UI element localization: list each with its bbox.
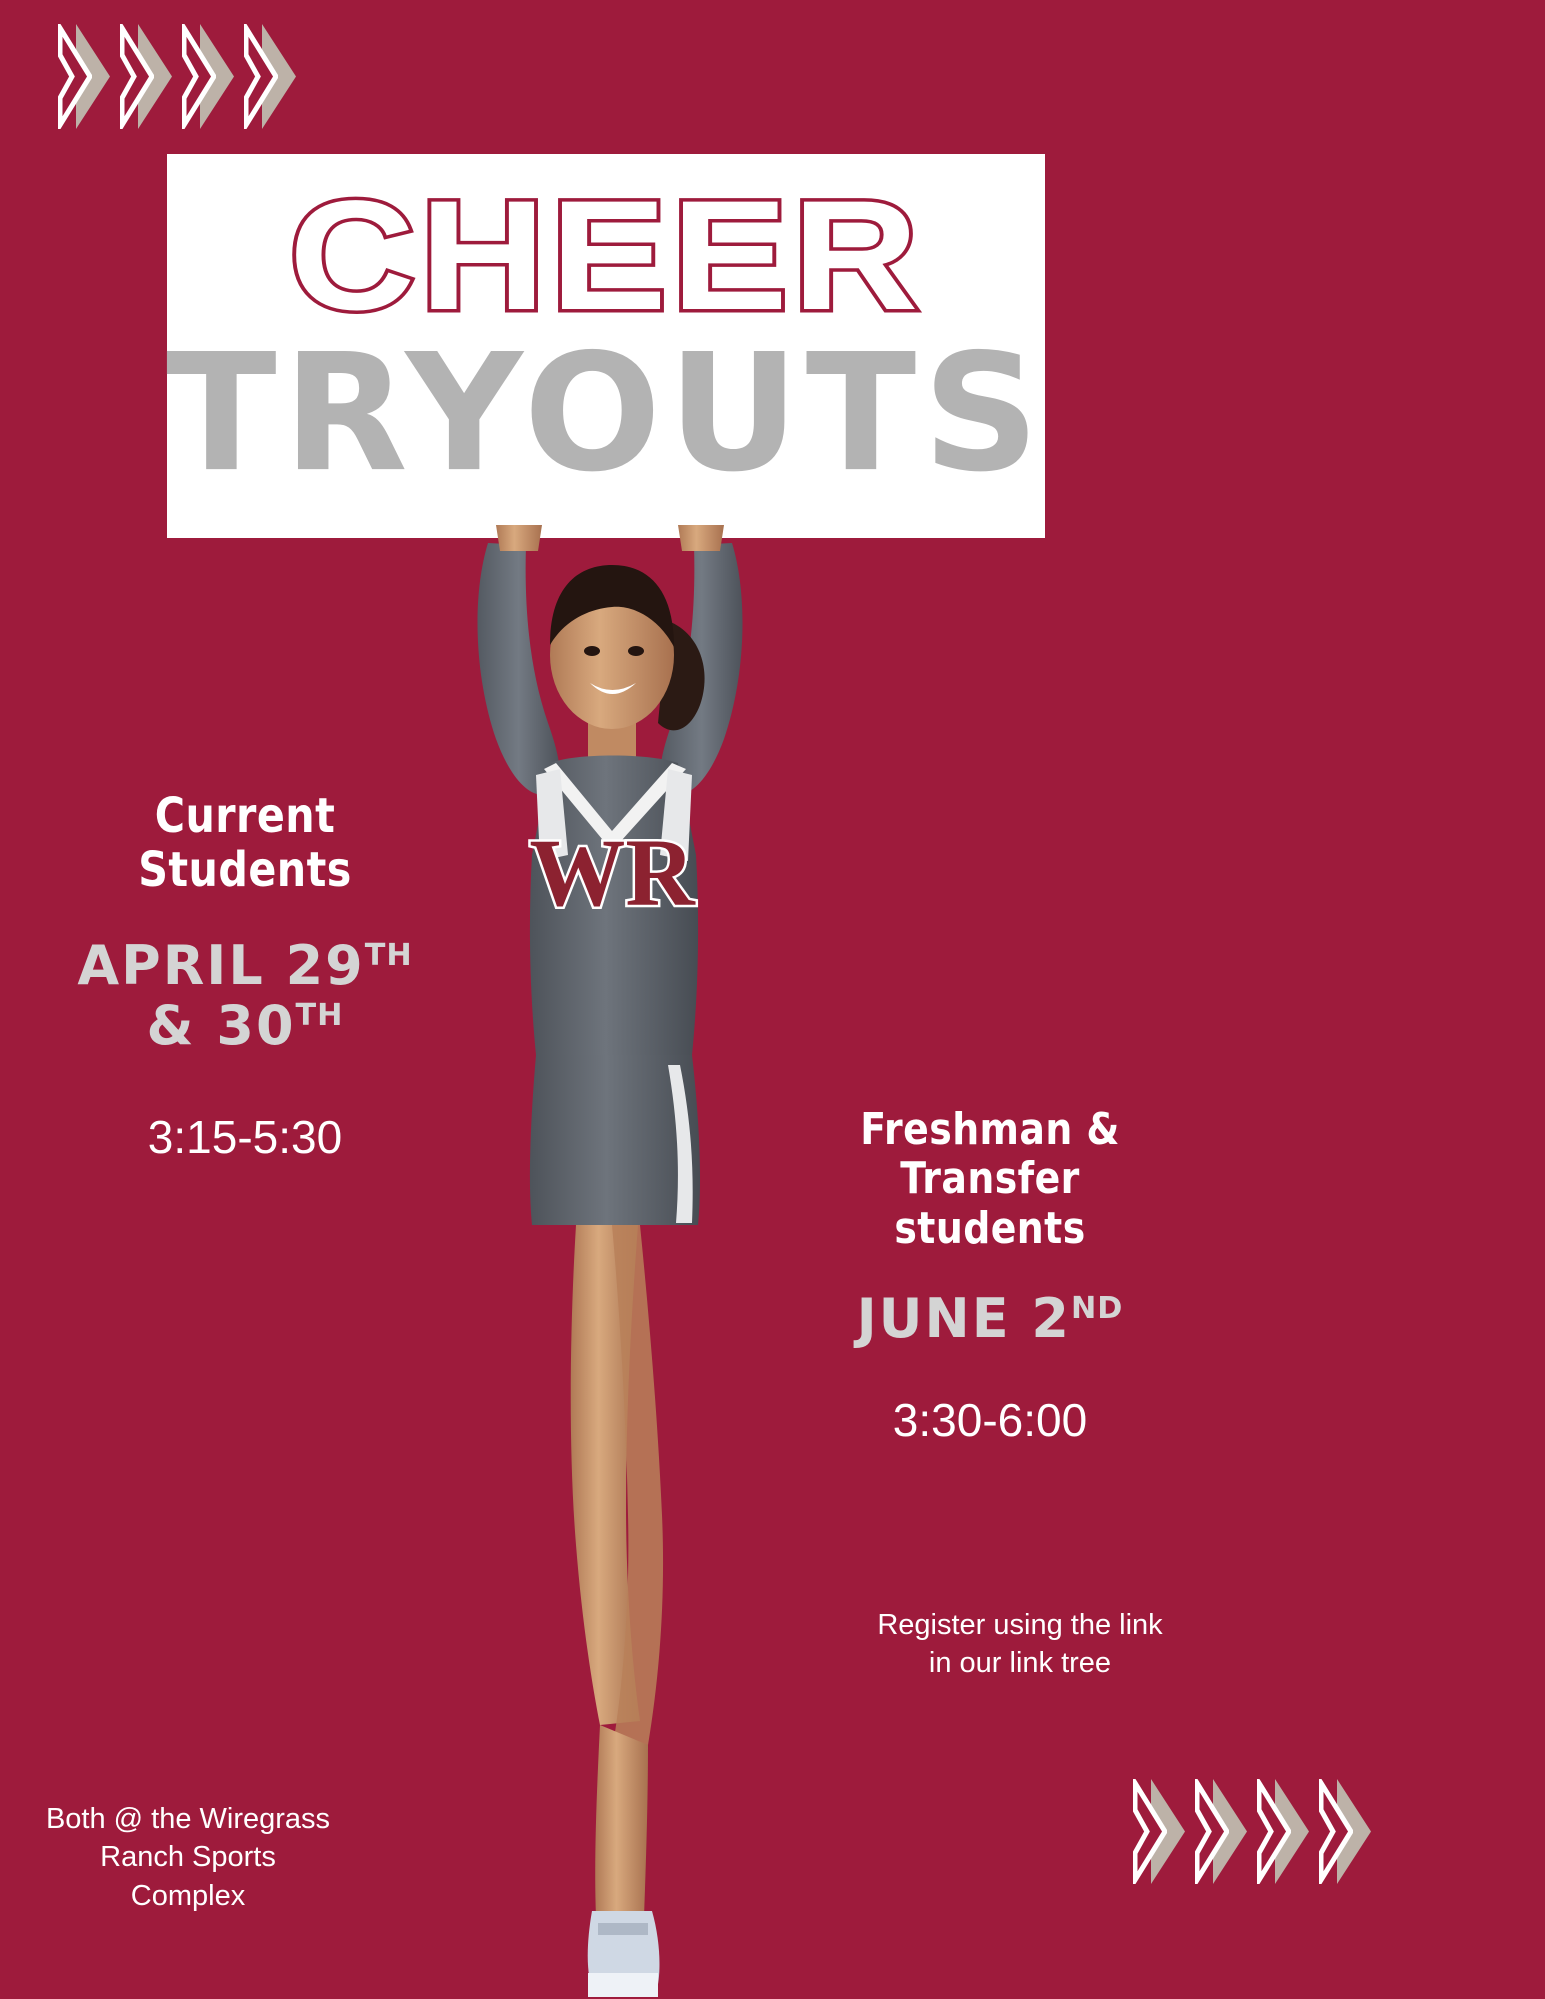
freshman-transfer-date: JUNE 2ND xyxy=(740,1289,1240,1349)
chevron-outline-icon xyxy=(244,24,278,129)
venue-note-line1: Both @ the Wiregrass xyxy=(18,1800,358,1838)
chevron-pair xyxy=(244,24,306,129)
freshman-transfer-heading: Freshman & Transfer students xyxy=(775,1105,1205,1253)
freshman-transfer-block: Freshman & Transfer students JUNE 2ND 3:… xyxy=(740,1105,1240,1447)
date-line-1-suffix: TH xyxy=(365,938,413,973)
chevron-pair xyxy=(1195,1779,1257,1884)
venue-note-line3: Complex xyxy=(18,1877,358,1915)
chevron-outline-icon xyxy=(1319,1779,1353,1884)
chevron-outline-icon xyxy=(1195,1779,1229,1884)
venue-location: Both @ the Wiregrass Ranch Sports Comple… xyxy=(18,1800,358,1915)
chevron-pair xyxy=(58,24,120,129)
chevron-outline-icon xyxy=(58,24,92,129)
chevron-outline-icon xyxy=(1133,1779,1167,1884)
page-title-tryouts: TRYOUTS xyxy=(132,333,1080,495)
venue-note-line2: Ranch Sports xyxy=(18,1838,358,1876)
freshman-transfer-heading-line2: students xyxy=(775,1204,1205,1253)
chevron-pair xyxy=(1257,1779,1319,1884)
date-line-1-text: APRIL 29 xyxy=(77,934,364,997)
date-line-2-text: & 30 xyxy=(147,994,296,1057)
current-students-time: 3:15-5:30 xyxy=(20,1110,470,1164)
svg-text:WR: WR xyxy=(529,819,696,926)
chevron-pair xyxy=(120,24,182,129)
chevron-decoration-top-left xyxy=(58,24,306,129)
chevron-pair xyxy=(1133,1779,1195,1884)
current-students-block: Current Students APRIL 29TH & 30TH 3:15-… xyxy=(20,790,470,1164)
chevron-pair xyxy=(1319,1779,1381,1884)
current-students-heading: Current Students xyxy=(52,790,439,898)
poster-canvas: CHEER TRYOUTS xyxy=(0,0,1545,1999)
june-date-suffix: ND xyxy=(1071,1291,1123,1326)
title-panel: CHEER TRYOUTS xyxy=(167,154,1045,538)
register-instructions: Register using the link in our link tree xyxy=(820,1606,1220,1683)
chevron-outline-icon xyxy=(182,24,216,129)
june-date-text: JUNE 2 xyxy=(857,1287,1071,1350)
chevron-decoration-bottom-right xyxy=(1133,1779,1381,1884)
register-note-line2: in our link tree xyxy=(820,1644,1220,1682)
freshman-transfer-heading-line1: Freshman & Transfer xyxy=(775,1105,1205,1204)
page-title-cheer: CHEER xyxy=(114,178,1097,334)
chevron-outline-icon xyxy=(1257,1779,1291,1884)
current-students-date: APRIL 29TH & 30TH xyxy=(20,936,470,1057)
freshman-transfer-time: 3:30-6:00 xyxy=(740,1393,1240,1447)
date-line-2-suffix: TH xyxy=(296,998,344,1033)
chevron-outline-icon xyxy=(120,24,154,129)
register-note-line1: Register using the link xyxy=(820,1606,1220,1644)
chevron-pair xyxy=(182,24,244,129)
